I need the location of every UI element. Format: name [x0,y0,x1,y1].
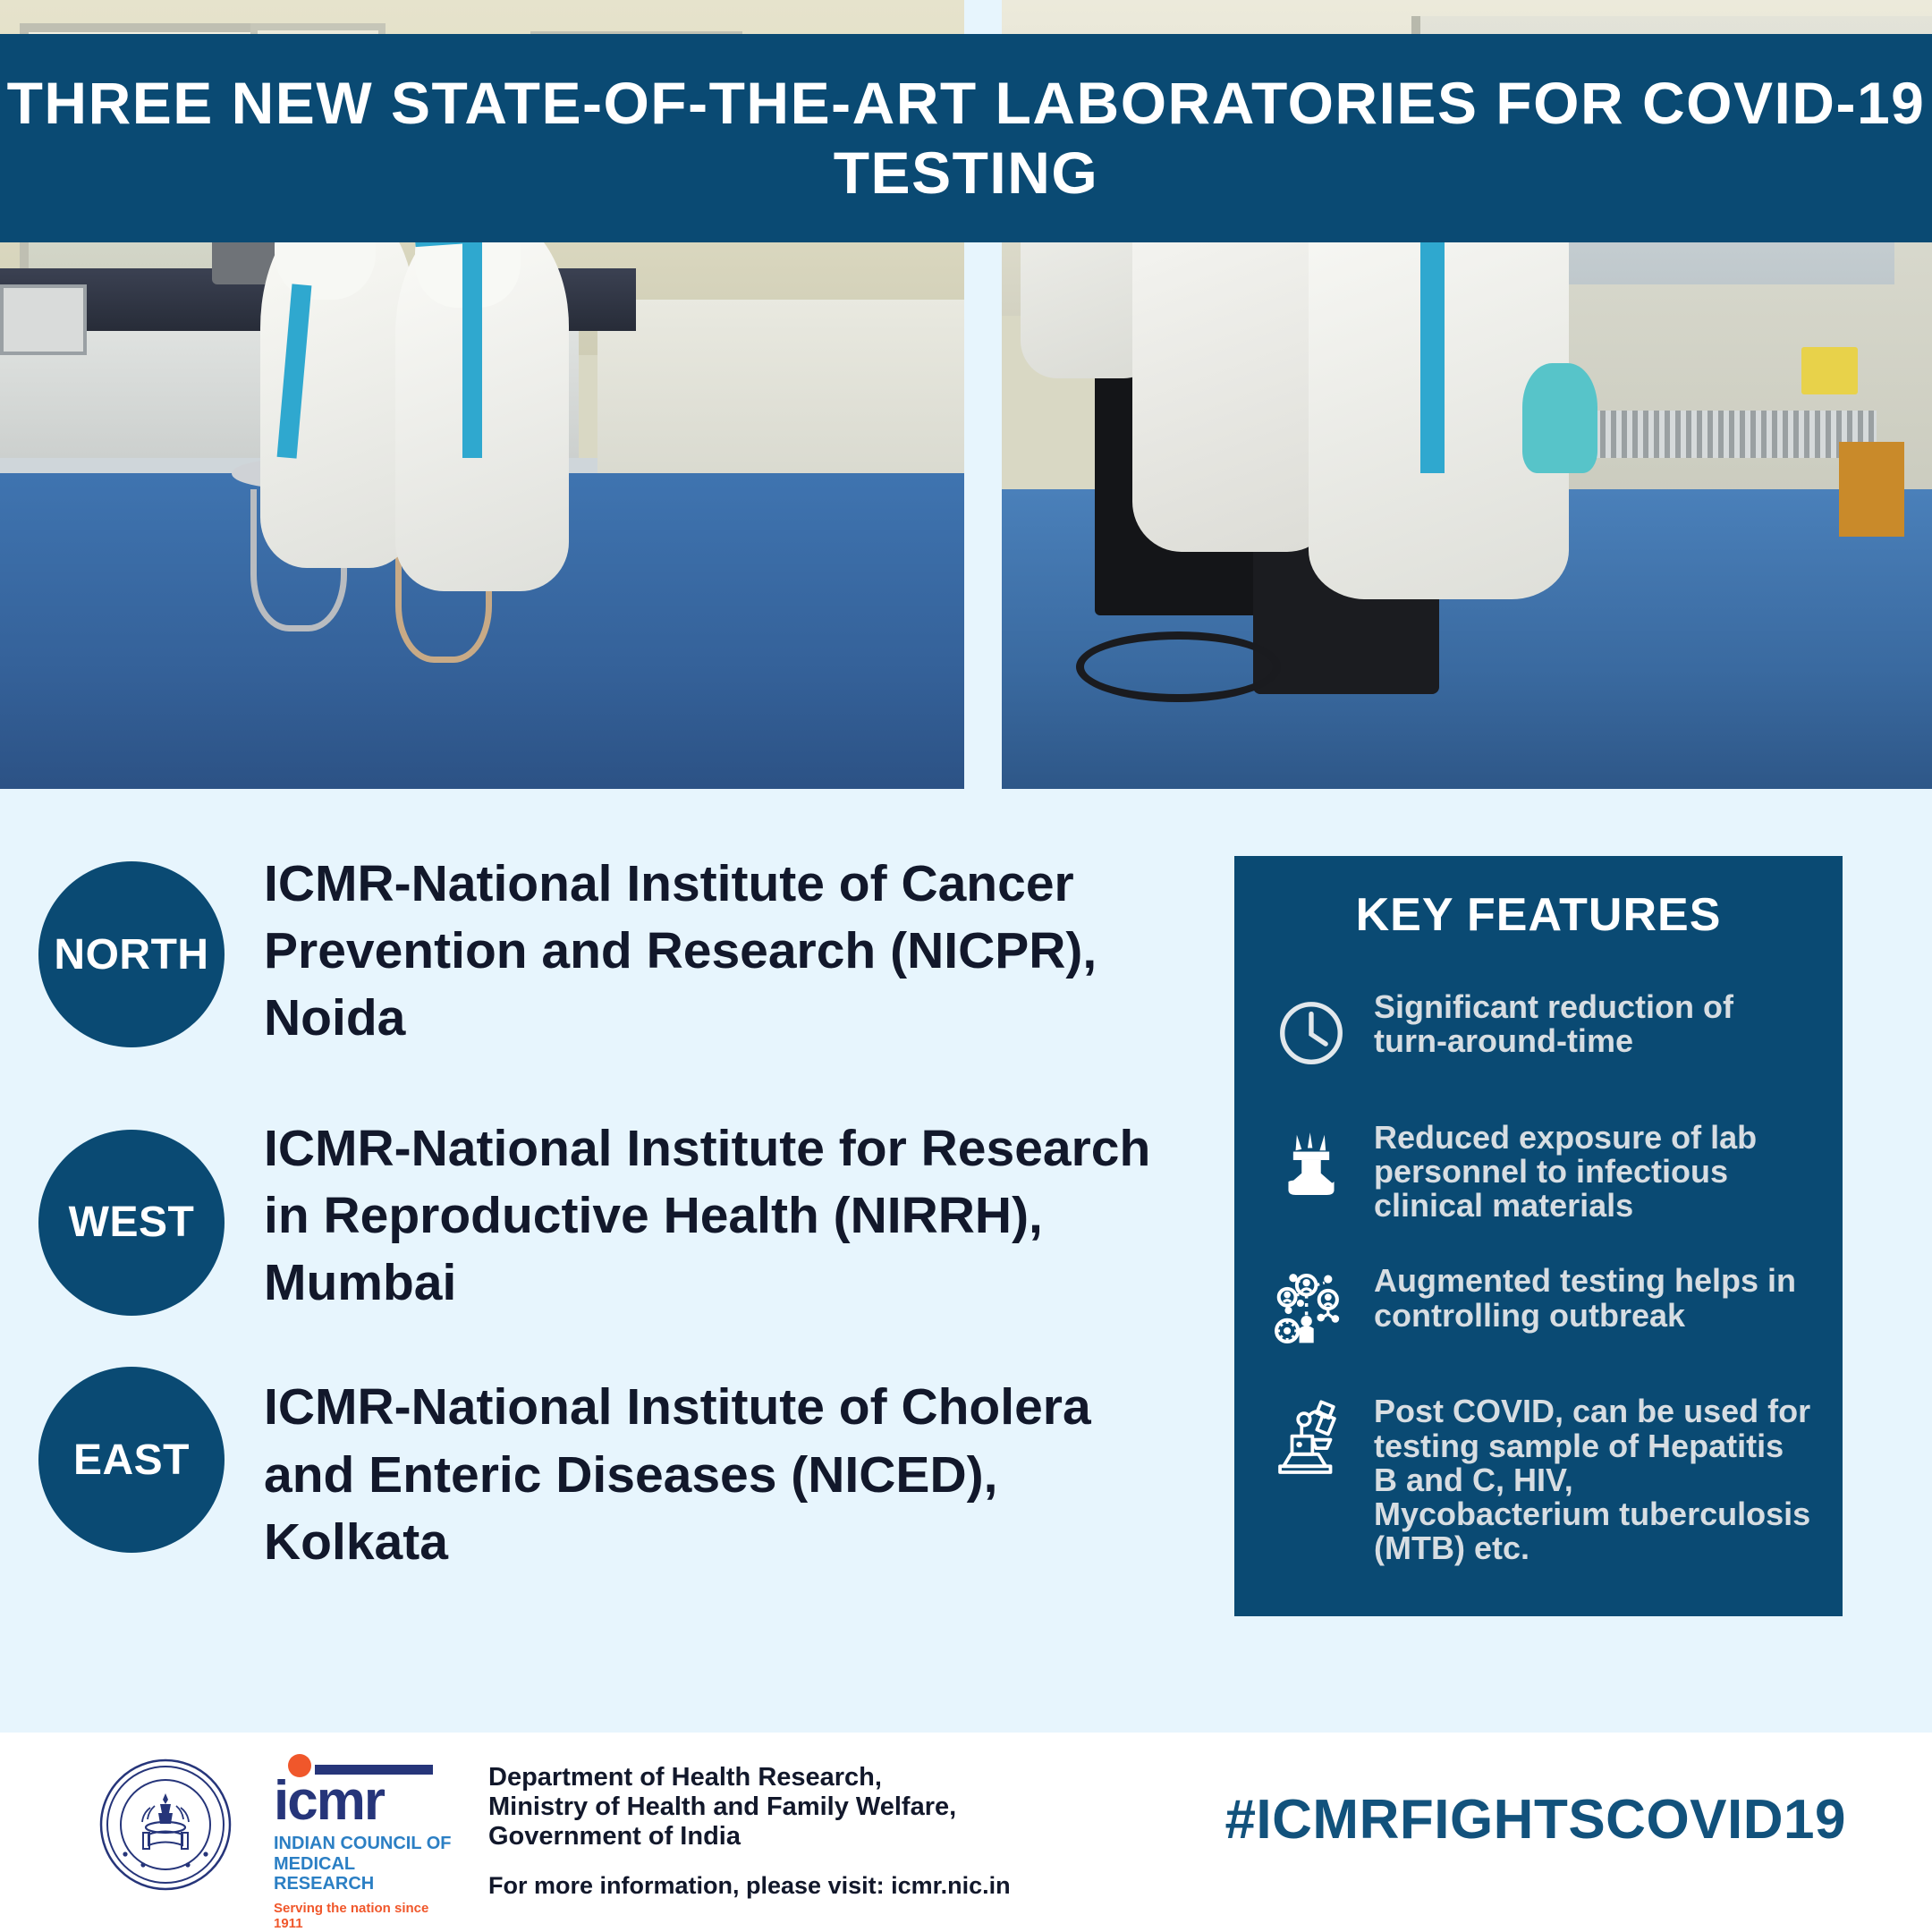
department-block: Department of Health Research, Ministry … [488,1758,1011,1900]
key-features-title: KEY FEATURES [1265,888,1812,942]
icmr-wordmark: icmr [274,1776,453,1826]
visit-info[interactable]: For more information, please visit: icmr… [488,1872,1011,1900]
key-feature-text: Augmented testing helps in controlling o… [1374,1260,1812,1332]
region-institute-east: ICMR-National Institute of Cholera and E… [264,1374,1194,1576]
region-institute-north: ICMR-National Institute of Cancer Preven… [264,851,1194,1053]
photo2-cabinet-grille [1579,411,1877,458]
icmr-tagline: Serving the nation since 1911 [274,1901,453,1931]
region-item-east: EAST ICMR-National Institute of Cholera … [38,1358,1201,1576]
icmr-seal-icon [98,1758,233,1892]
region-institute-west: ICMR-National Institute for Research in … [264,1115,1194,1318]
department-line-1: Department of Health Research, [488,1763,1011,1792]
key-feature-text: Post COVID, can be used for testing samp… [1374,1391,1812,1565]
photo1-technician-b-tape-spine [462,237,482,458]
page-title: THREE NEW STATE-OF-THE-ART LABORATORIES … [0,69,1932,207]
title-banner: THREE NEW STATE-OF-THE-ART LABORATORIES … [0,34,1932,242]
key-feature-text: Reduced exposure of lab personnel to inf… [1374,1117,1812,1223]
region-item-north: NORTH ICMR-National Institute of Cancer … [38,856,1201,1053]
photo1-instrument [0,284,87,355]
key-feature-item: Augmented testing helps in controlling o… [1265,1260,1812,1353]
icmr-subtitle-line1: INDIAN COUNCIL OF [274,1834,453,1854]
key-feature-item: Post COVID, can be used for testing samp… [1265,1391,1812,1565]
clock-icon [1265,987,1358,1080]
region-badge-west: WEST [38,1130,225,1316]
key-features-panel: KEY FEATURES Significant reduction of tu… [1234,856,1843,1616]
region-badge-east: EAST [38,1367,225,1553]
photo2-yellow-rack [1801,347,1857,394]
icmr-logo-dot [288,1754,311,1777]
footer: icmr INDIAN COUNCIL OF MEDICAL RESEARCH … [0,1733,1932,1932]
photo2-technician-c-tape-spine [1420,221,1445,473]
icmr-logo-bar [315,1765,433,1775]
footer-branding: icmr INDIAN COUNCIL OF MEDICAL RESEARCH … [98,1758,1011,1931]
icmr-subtitle: INDIAN COUNCIL OF MEDICAL RESEARCH [274,1834,453,1894]
photo2-teal-glove [1522,363,1597,473]
icmr-subtitle-line2: MEDICAL RESEARCH [274,1854,453,1895]
campaign-hashtag: #ICMRFIGHTSCOVID19 [1224,1788,1846,1851]
region-badge-north: NORTH [38,861,225,1047]
photo2-chair-base [1076,631,1281,702]
icmr-logo: icmr INDIAN COUNCIL OF MEDICAL RESEARCH … [274,1758,453,1931]
key-feature-item: Significant reduction of turn-around-tim… [1265,987,1812,1080]
contact-network-icon [1265,1260,1358,1353]
infographic-poster: THREE NEW STATE-OF-THE-ART LABORATORIES … [0,0,1932,1932]
key-feature-text: Significant reduction of turn-around-tim… [1374,987,1812,1058]
department-line-2: Ministry of Health and Family Welfare, [488,1792,1011,1822]
department-line-3: Government of India [488,1822,1011,1851]
region-item-west: WEST ICMR-National Institute for Researc… [38,1094,1201,1318]
flask-icon [1265,1117,1358,1210]
microscope-icon [1265,1391,1358,1484]
region-list: NORTH ICMR-National Institute of Cancer … [38,856,1201,1576]
key-feature-item: Reduced exposure of lab personnel to inf… [1265,1117,1812,1223]
photo2-amber-panel [1839,442,1904,537]
